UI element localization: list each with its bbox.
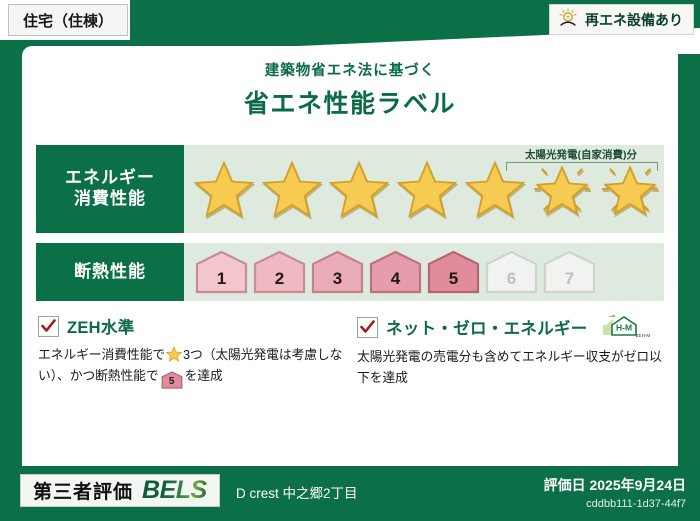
note-net-zero-energy: ネット・ゼロ・エネルギー H-M ZEH-M 太陽光発電の売電分も含めてエネルギ… xyxy=(357,314,662,389)
check-icon xyxy=(360,320,375,335)
label-footer: 第三者評価 BELS D crest 中之郷2丁目 評価日 2025年9月24日… xyxy=(0,466,700,521)
criteria-notes: ZEH水準 エネルギー消費性能で3つ（太陽光発電は考慮しない）、かつ断熱性能で … xyxy=(38,314,662,389)
evaluation-info: 評価日 2025年9月24日 cddbb111-1d37-44f7 xyxy=(544,475,686,510)
third-party-eval-label: 第三者評価 xyxy=(33,477,133,504)
bels-logo: BELS xyxy=(142,476,207,505)
insulation-level-6: 6 xyxy=(484,250,539,294)
renewable-energy-badge: 再エネ設備あり xyxy=(549,4,694,35)
sun-icon xyxy=(558,8,578,32)
insulation-level-1: 1 xyxy=(194,250,249,294)
label-panel: 建築物省エネ法に基づく 省エネ性能ラベル エネルギー 消費性能 太陽光発電(自家… xyxy=(22,46,678,466)
svg-text:H-M: H-M xyxy=(616,323,632,333)
check-icon xyxy=(41,319,56,334)
energy-performance-label: エネルギー 消費性能 xyxy=(36,145,184,233)
note-nze-header: ネット・ゼロ・エネルギー H-M ZEH-M xyxy=(357,314,662,340)
checkbox-zeh xyxy=(38,316,59,337)
insulation-levels-area: 1 2 3 4 5 xyxy=(184,243,664,301)
note-zeh-text-3: を達成 xyxy=(185,368,223,383)
star-3 xyxy=(325,145,393,233)
checkbox-net-zero xyxy=(357,317,378,338)
note-zeh-text-1: エネルギー消費性能で xyxy=(38,347,165,362)
energy-performance-row: エネルギー 消費性能 太陽光発電(自家消費)分 xyxy=(36,145,664,233)
note-nze-title: ネット・ゼロ・エネルギー xyxy=(386,315,588,339)
label-subtitle: 建築物省エネ法に基づく xyxy=(22,59,678,80)
insulation-performance-label: 断熱性能 xyxy=(36,243,184,301)
insulation-level-7: 7 xyxy=(542,250,597,294)
solar-bracket xyxy=(506,162,658,171)
evaluation-id: cddbb111-1d37-44f7 xyxy=(544,498,686,510)
star-2 xyxy=(258,145,326,233)
note-zeh-body: エネルギー消費性能で3つ（太陽光発電は考慮しない）、かつ断熱性能で 5 を達成 xyxy=(38,345,343,389)
solar-annotation-label: 太陽光発電(自家消費)分 xyxy=(502,147,660,162)
note-nze-body: 太陽光発電の売電分も含めてエネルギー収支がゼロ以下を達成 xyxy=(357,347,662,388)
note-zeh-title: ZEH水準 xyxy=(67,314,135,338)
energy-performance-stars-area: 太陽光発電(自家消費)分 xyxy=(184,145,664,233)
page-title: 省エネ性能ラベル xyxy=(22,84,678,120)
category-tab-label: 住宅（住棟） xyxy=(23,10,113,31)
insulation-level-scale: 1 2 3 4 5 xyxy=(184,243,664,301)
inline-house-badge: 5 xyxy=(161,371,183,389)
svg-text:ZEH-M: ZEH-M xyxy=(635,333,649,338)
zeh-m-logo-icon: H-M ZEH-M xyxy=(598,314,650,340)
renewable-badge-label: 再エネ設備あり xyxy=(585,10,683,30)
star-4 xyxy=(393,145,461,233)
note-zeh-header: ZEH水準 xyxy=(38,314,343,338)
building-name: D crest 中之郷2丁目 xyxy=(236,482,358,502)
insulation-level-5: 5 xyxy=(426,250,481,294)
insulation-level-3: 3 xyxy=(310,250,365,294)
insulation-level-2: 2 xyxy=(252,250,307,294)
insulation-level-4: 4 xyxy=(368,250,423,294)
bels-energy-label: 住宅（住棟） 再エネ設備あり 建築物省エネ法に基づく 省エネ性能ラベル xyxy=(0,0,700,521)
bels-certification-mark: 第三者評価 BELS xyxy=(20,474,220,507)
star-1 xyxy=(190,145,258,233)
inline-star-icon xyxy=(166,346,182,362)
note-zeh-standard: ZEH水準 エネルギー消費性能で3つ（太陽光発電は考慮しない）、かつ断熱性能で … xyxy=(38,314,343,389)
evaluation-date: 評価日 2025年9月24日 xyxy=(544,475,686,495)
category-tab: 住宅（住棟） xyxy=(8,4,128,36)
insulation-performance-row: 断熱性能 1 2 3 xyxy=(36,243,664,301)
